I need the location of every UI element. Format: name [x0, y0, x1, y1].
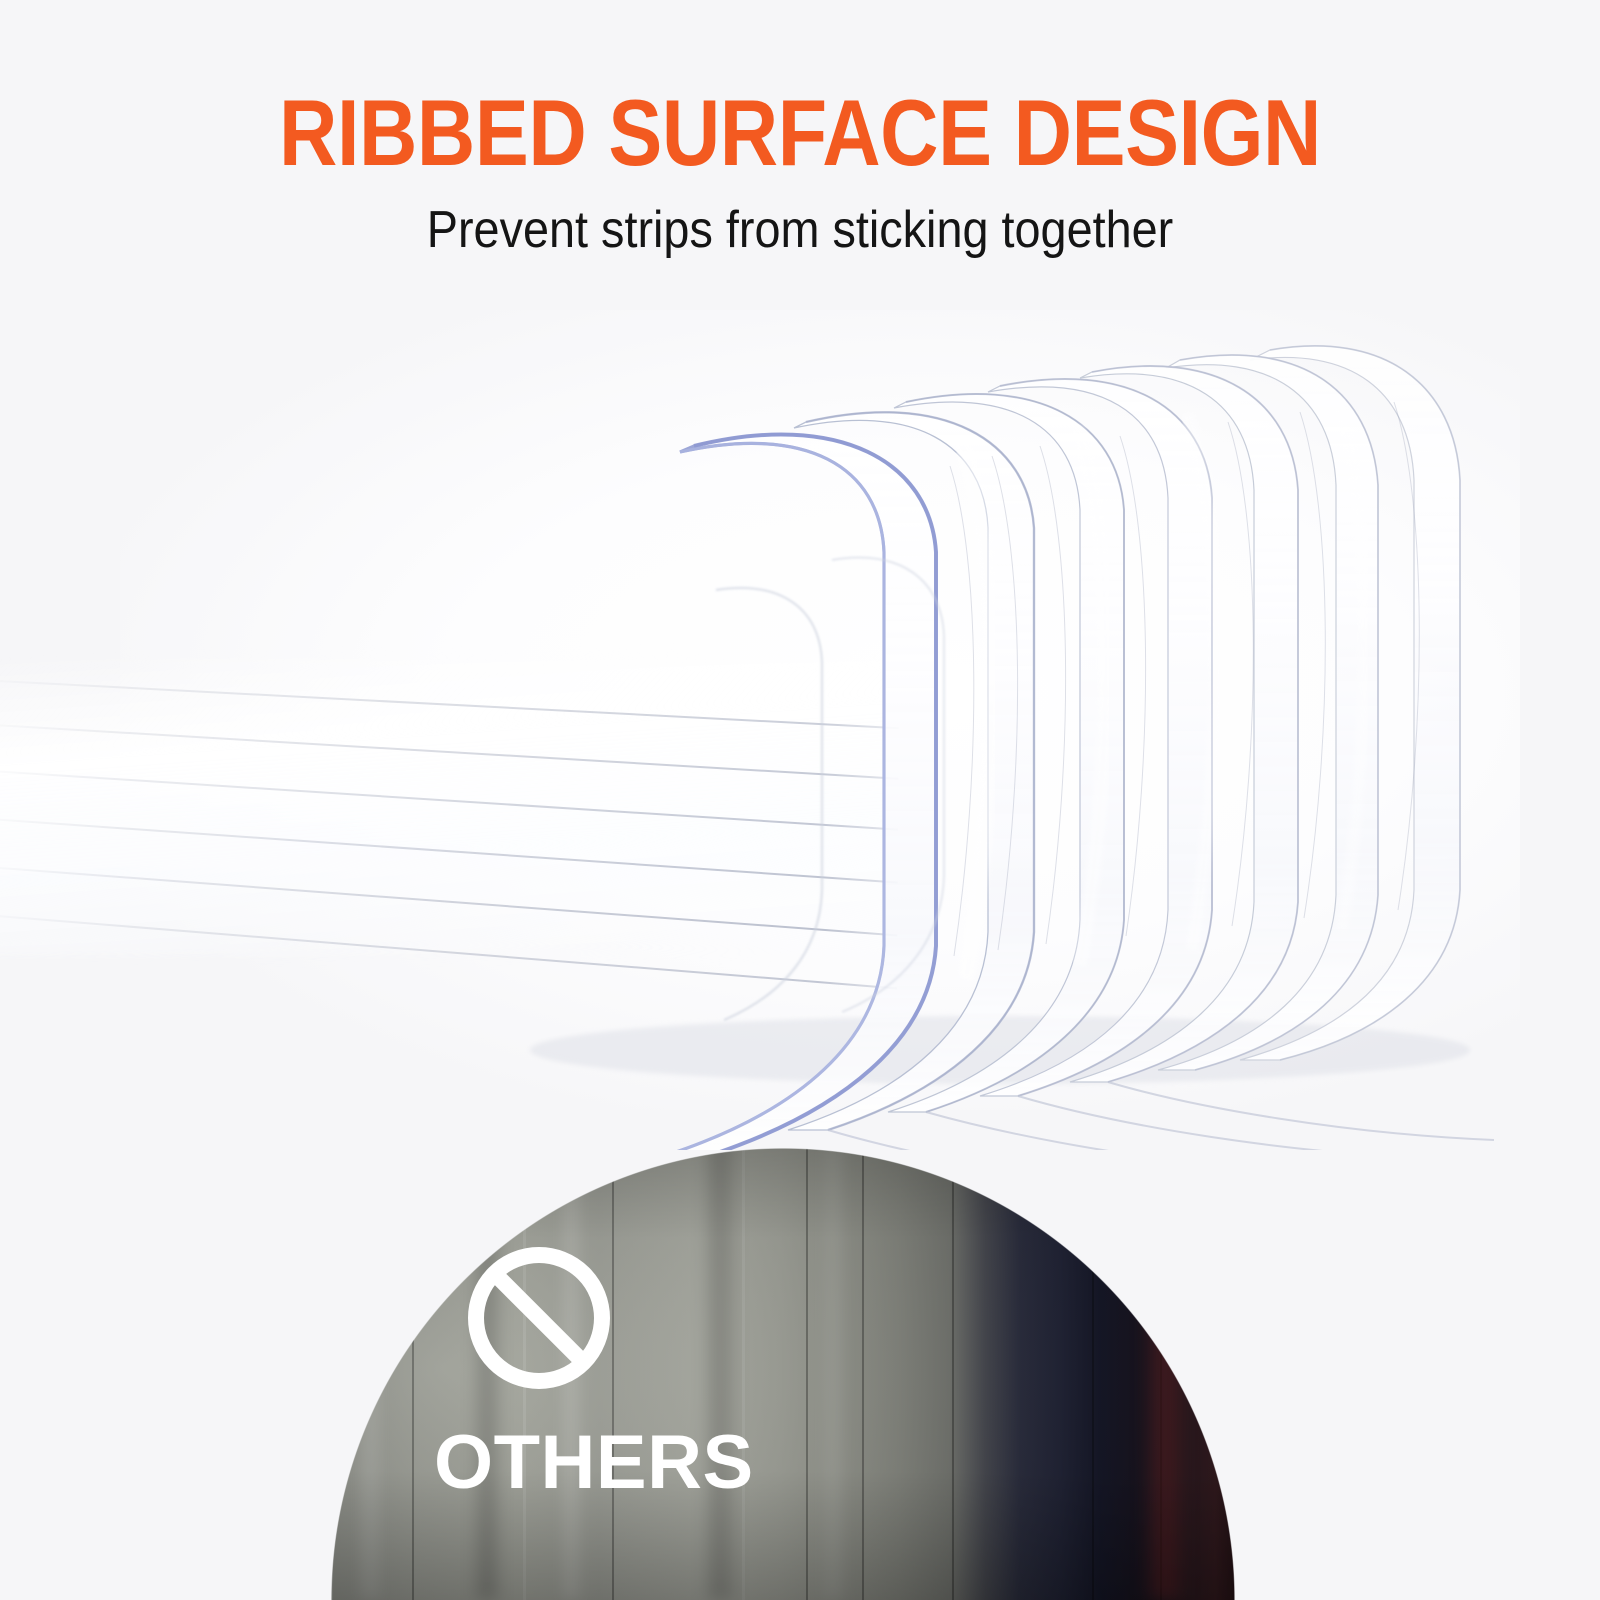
page-subtitle: Prevent strips from sticking together	[80, 204, 1520, 256]
prohibition-icon-glyph	[466, 1245, 612, 1391]
folded-strips-group	[480, 290, 1540, 1090]
comparison-panel	[0, 1137, 1600, 1600]
prohibition-icon	[466, 1245, 612, 1391]
comparison-photo	[0, 1137, 1235, 1600]
comparison-label: OTHERS	[434, 1425, 754, 1501]
product-photo	[0, 270, 1600, 1150]
product-infographic: RIBBED SURFACE DESIGN Prevent strips fro…	[0, 0, 1600, 1600]
header-block: RIBBED SURFACE DESIGN Prevent strips fro…	[0, 0, 1600, 300]
page-title: RIBBED SURFACE DESIGN	[112, 86, 1488, 180]
photo-vignette	[0, 1137, 1235, 1600]
pvc-strip-illustration	[480, 290, 1540, 1090]
